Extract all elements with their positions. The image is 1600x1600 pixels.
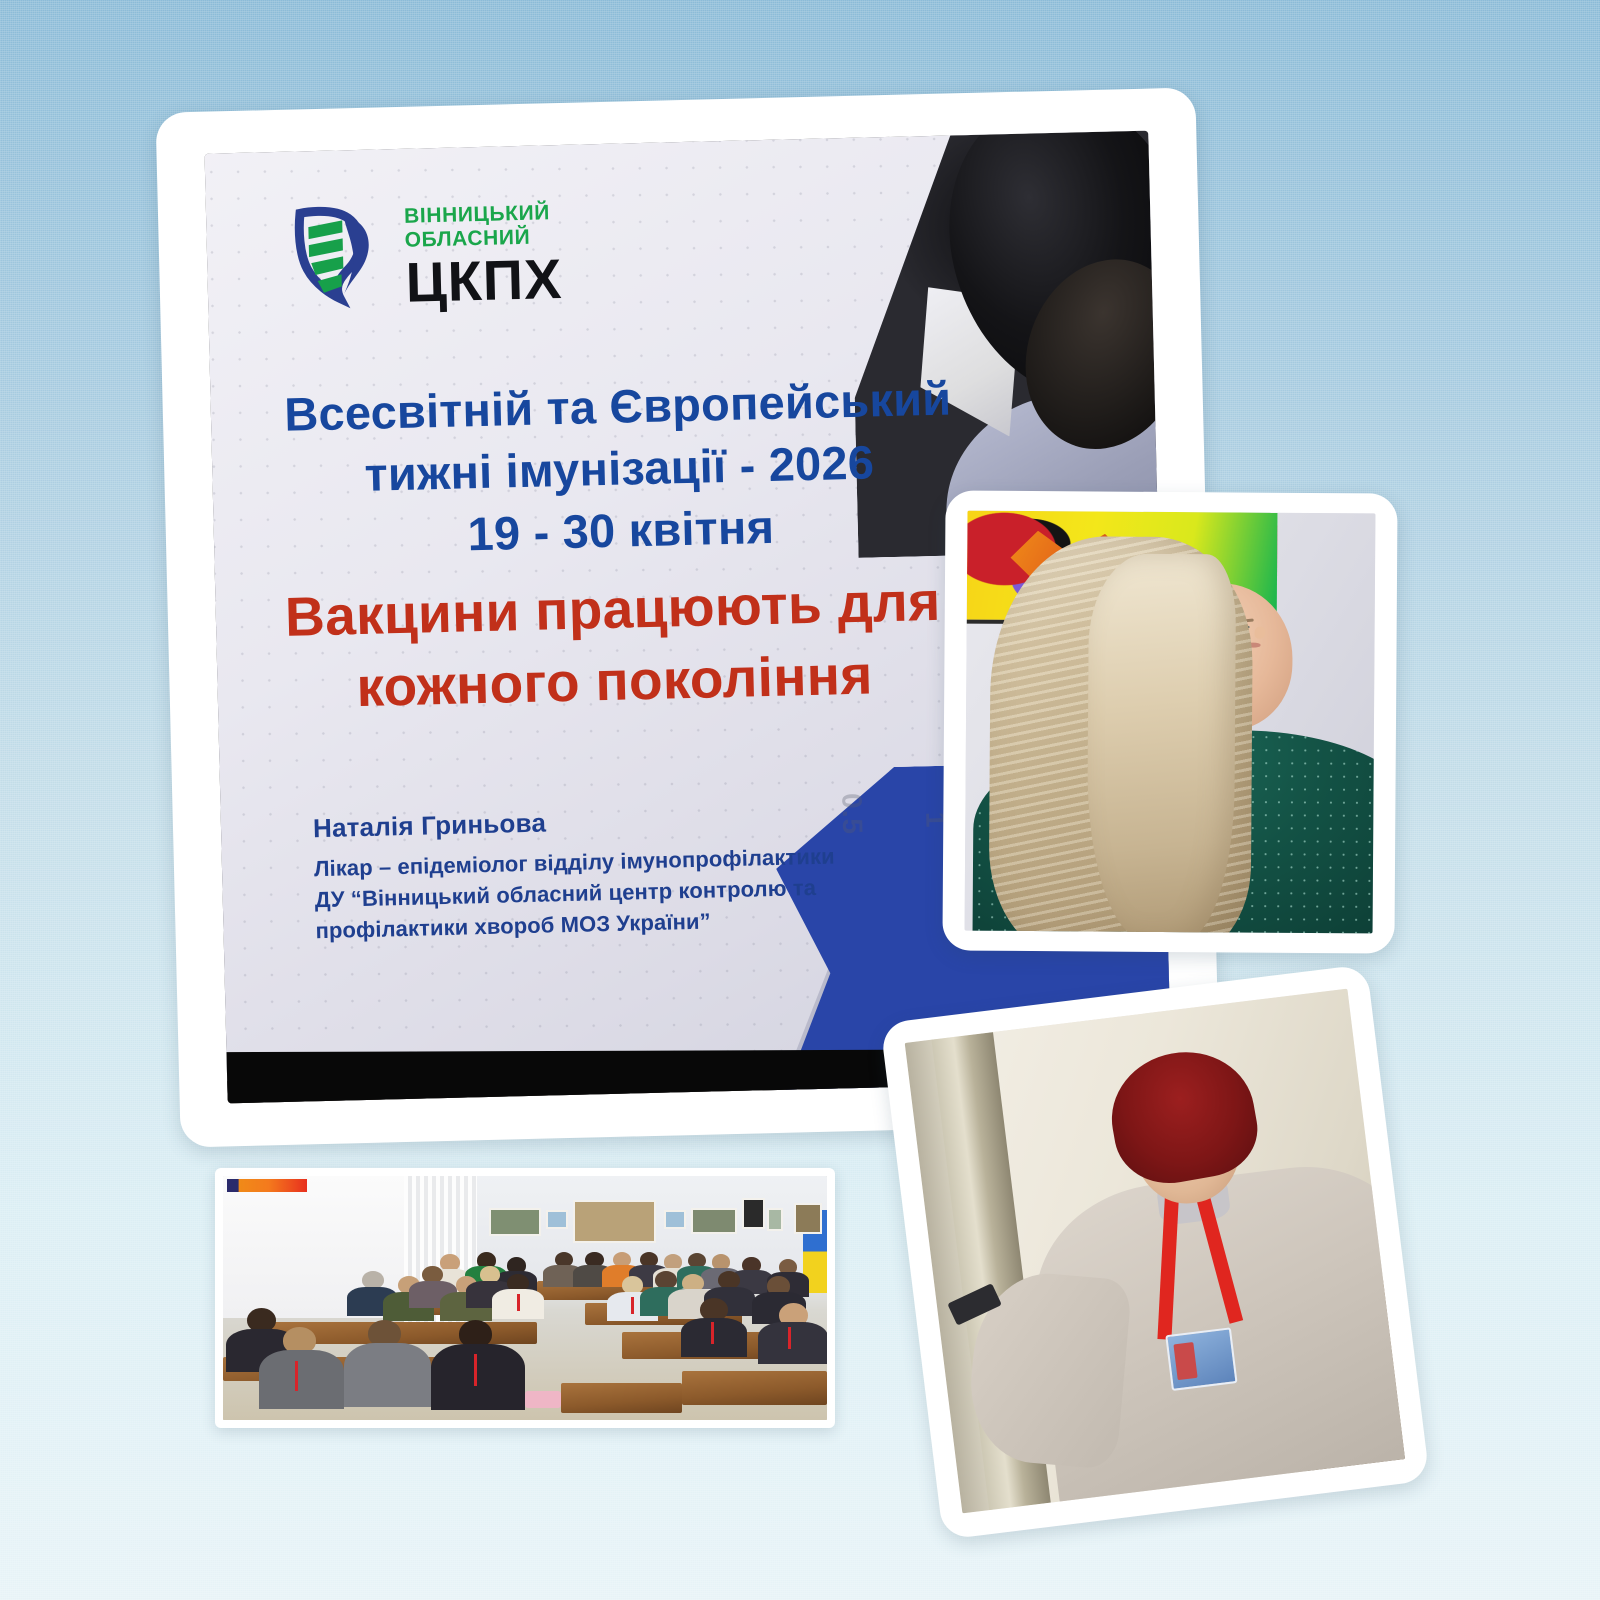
photo-audience-hall[interactable] — [215, 1168, 835, 1428]
wall-picture — [794, 1203, 822, 1234]
redhair-hair — [1102, 1041, 1265, 1192]
blonde-wall-poster — [967, 511, 1278, 626]
slide-speaker-block: Наталія Гриньова Лікар – епідеміолог від… — [313, 801, 837, 947]
shield-leaf-logo-icon — [292, 201, 391, 315]
blonde-wall-background — [965, 511, 1376, 934]
wall-picture — [489, 1208, 541, 1236]
wall-picture — [691, 1208, 737, 1234]
logo-acronym: ЦКПХ — [405, 251, 563, 311]
cphc-logo: ВІННИЦЬКИЙ ОБЛАСНИЙ ЦКПХ — [292, 197, 563, 316]
wall-picture — [573, 1200, 656, 1243]
slide-slogan: Вакцини працюють для кожного покоління — [215, 564, 1012, 726]
blonde-hair — [989, 536, 1253, 933]
redhair-id-badge — [1165, 1328, 1238, 1392]
redhair-beige-sweater — [1023, 1154, 1405, 1514]
wall-picture — [767, 1208, 783, 1232]
hall-window-blinds — [404, 1176, 476, 1327]
redhair-arm — [964, 1268, 1132, 1470]
logo-line-1: ВІННИЦЬКИЙ — [404, 201, 561, 229]
wall-picture — [664, 1210, 686, 1229]
speaker-name: Наталія Гриньова — [313, 801, 834, 845]
wall-picture — [546, 1210, 568, 1229]
ghost-mark-1: 0.5 — [835, 793, 868, 836]
slide-title: Всесвітній та Європейський тижні імуніза… — [210, 366, 1028, 572]
wall-picture — [742, 1198, 764, 1229]
blonde-hair-front — [1087, 553, 1237, 933]
redhair-lanyard-right — [1195, 1192, 1243, 1324]
photo-blonde-inner — [965, 511, 1376, 934]
redhair-inner-top — [1156, 1175, 1232, 1226]
redhair-lanyard-left — [1158, 1197, 1180, 1340]
photo-audience-inner — [223, 1176, 827, 1420]
photo-redhair-inner — [905, 989, 1405, 1514]
blonde-green-sweater — [973, 729, 1376, 933]
pink-folder — [525, 1391, 561, 1408]
redhair-wooden-desk — [1286, 1280, 1405, 1471]
photo-blonde-speaker[interactable] — [942, 490, 1397, 953]
blonde-neck — [1170, 705, 1244, 773]
presenter-clicker-icon — [948, 1283, 1002, 1325]
hall-wall — [223, 1176, 827, 1420]
redhair-wall-background — [905, 989, 1405, 1514]
blonde-face — [1154, 583, 1294, 731]
redhair-door-jamb — [905, 1039, 994, 1513]
redhair-door — [931, 1032, 1051, 1510]
ukraine-flag — [803, 1210, 827, 1293]
hall-projection-screen — [223, 1176, 422, 1318]
redhair-face — [1126, 1074, 1247, 1209]
photo-redhair-presenter[interactable] — [880, 964, 1430, 1540]
